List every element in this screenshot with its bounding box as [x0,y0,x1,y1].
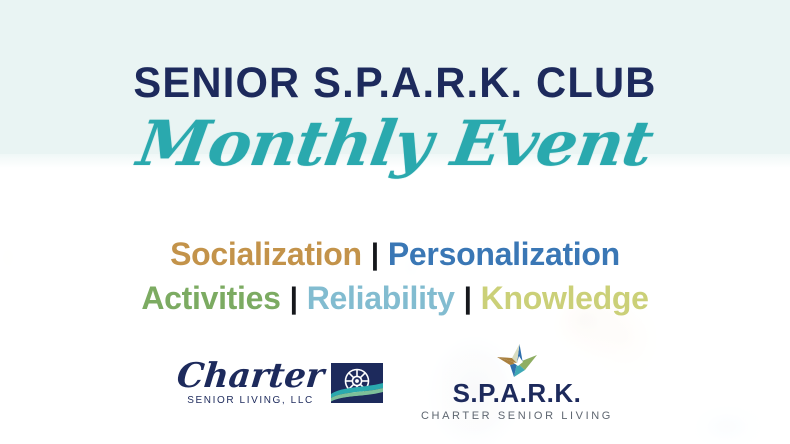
word-activities: Activities [141,280,280,316]
five-point-star-icon [496,344,538,378]
charter-senior-living-logo: Charter SENIOR LIVING, LLC [177,360,383,405]
script-subtitle: Monthly Event [0,113,790,175]
spark-title: S.P.A.R.K. [421,380,613,406]
word-separator: | [290,278,298,319]
spark-word-list: Socialization|Personalization Activities… [0,232,790,321]
spark-logo: S.P.A.R.K. CHARTER SENIOR LIVING [421,344,613,422]
word-line-1: Socialization|Personalization [0,232,790,276]
word-reliability: Reliability [307,280,455,316]
word-personalization: Personalization [388,236,620,272]
word-knowledge: Knowledge [481,280,649,316]
ship-wheel-wave-icon [331,363,383,403]
charter-script-name: Charter [175,360,325,392]
word-line-2: Activities|Reliability|Knowledge [0,276,790,320]
spark-subtitle: CHARTER SENIOR LIVING [421,410,613,422]
word-separator: | [464,278,472,319]
poster-canvas: SENIOR S.P.A.R.K. CLUB Monthly Event Soc… [0,0,790,444]
logo-row: Charter SENIOR LIVING, LLC [0,344,790,422]
page-title: SENIOR S.P.A.R.K. CLUB [12,62,778,105]
charter-wordmark: Charter SENIOR LIVING, LLC [177,360,324,405]
word-socialization: Socialization [170,236,362,272]
word-separator: | [371,234,379,275]
charter-subtitle: SENIOR LIVING, LLC [177,395,324,406]
